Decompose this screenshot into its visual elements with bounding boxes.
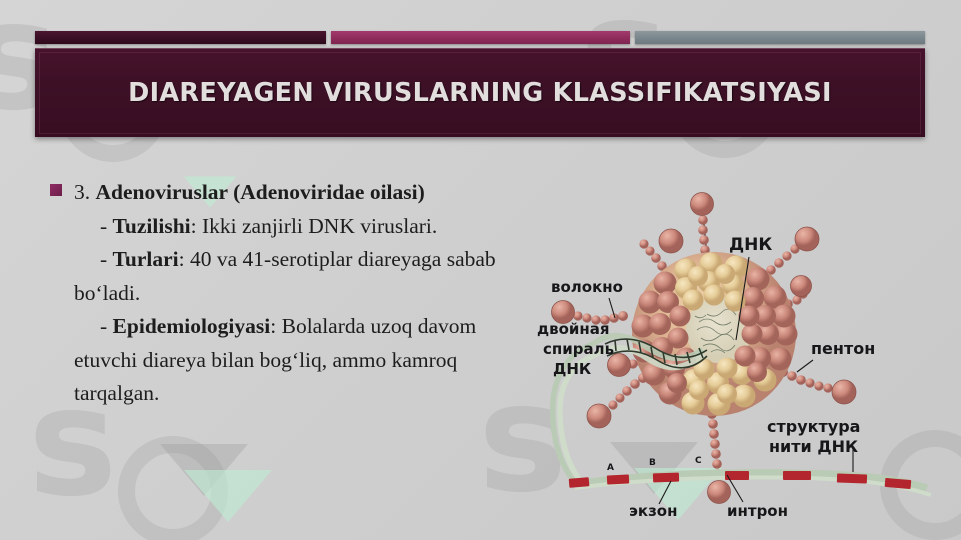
paragraph-epidemiologiyasi: - Epidemiologiyasi: Bolalarda uzoq davom… [74, 310, 512, 411]
text-tuzilishi: : Ikki zanjirli DNK viruslari. [191, 214, 438, 238]
bullet-item: 3. Adenoviruslar (Adenoviridae oilasi) -… [50, 176, 512, 411]
label-tuzilishi: Tuzilishi [113, 214, 191, 238]
square-bullet-icon [50, 184, 62, 196]
label-marker-a: A [607, 463, 614, 473]
gene-map-strand [569, 471, 931, 495]
page-title: DIAREYAGEN VIRUSLARNING KLASSIFIKATSIYAS… [128, 78, 832, 108]
title-banner: DIAREYAGEN VIRUSLARNING KLASSIFIKATSIYAS… [35, 48, 925, 137]
label-intron: интрон [727, 502, 788, 520]
label-struktura: структура [767, 417, 860, 436]
label-epidemiologiyasi: Epidemiologiyasi [113, 314, 271, 338]
dash-mark: - [100, 214, 113, 238]
watermark-chevron-icon [160, 444, 248, 496]
adenovirus-diagram: ДНК волокно двойная спираль ДНК пентон с… [531, 182, 955, 520]
label-turlari: Turlari [113, 247, 179, 271]
label-volokno: волокно [551, 278, 623, 296]
heading-prefix: 3. [74, 180, 96, 204]
label-spiral: спираль [543, 340, 614, 358]
fiber-lower-left [587, 373, 648, 428]
watermark-ring-icon [118, 436, 228, 540]
dash-mark: - [100, 247, 113, 271]
label-marker-c: C [695, 456, 702, 466]
label-dnk: ДНК [729, 235, 772, 255]
heading-bold: Adenoviruslar (Adenoviridae oilasi) [96, 180, 425, 204]
capsid [632, 252, 798, 416]
label-penton: пентон [811, 339, 875, 358]
accent-bar-slate-gray [635, 31, 925, 44]
label-dvoynaya-dnk: ДНК [553, 360, 592, 378]
accent-bar-magenta [331, 31, 630, 44]
adenovirus-svg: ДНК волокно двойная спираль ДНК пентон с… [531, 182, 955, 520]
accent-bar-dark-maroon [35, 31, 326, 44]
watermark-chevron-icon [184, 470, 272, 522]
slide-root: s s s s DIAREYAGEN VIRUSLARNING KLASSIFI… [0, 0, 961, 540]
label-ekzon: экзон [629, 502, 677, 520]
content-text-block: 3. Adenoviruslar (Adenoviridae oilasi) -… [50, 176, 512, 411]
paragraph-heading: 3. Adenoviruslar (Adenoviridae oilasi) [74, 176, 512, 210]
fiber-right-lower [778, 367, 856, 404]
paragraph-turlari: - Turlari: 40 va 41-serotiplar diareyaga… [74, 243, 512, 310]
label-marker-b: B [649, 458, 656, 468]
dash-mark: - [100, 314, 113, 338]
label-dvoynaya: двойная [537, 320, 610, 338]
accent-bar-row [35, 31, 925, 44]
label-niti-dnk: нити ДНК [769, 437, 858, 456]
paragraph-tuzilishi: - Tuzilishi: Ikki zanjirli DNK viruslari… [74, 210, 512, 244]
